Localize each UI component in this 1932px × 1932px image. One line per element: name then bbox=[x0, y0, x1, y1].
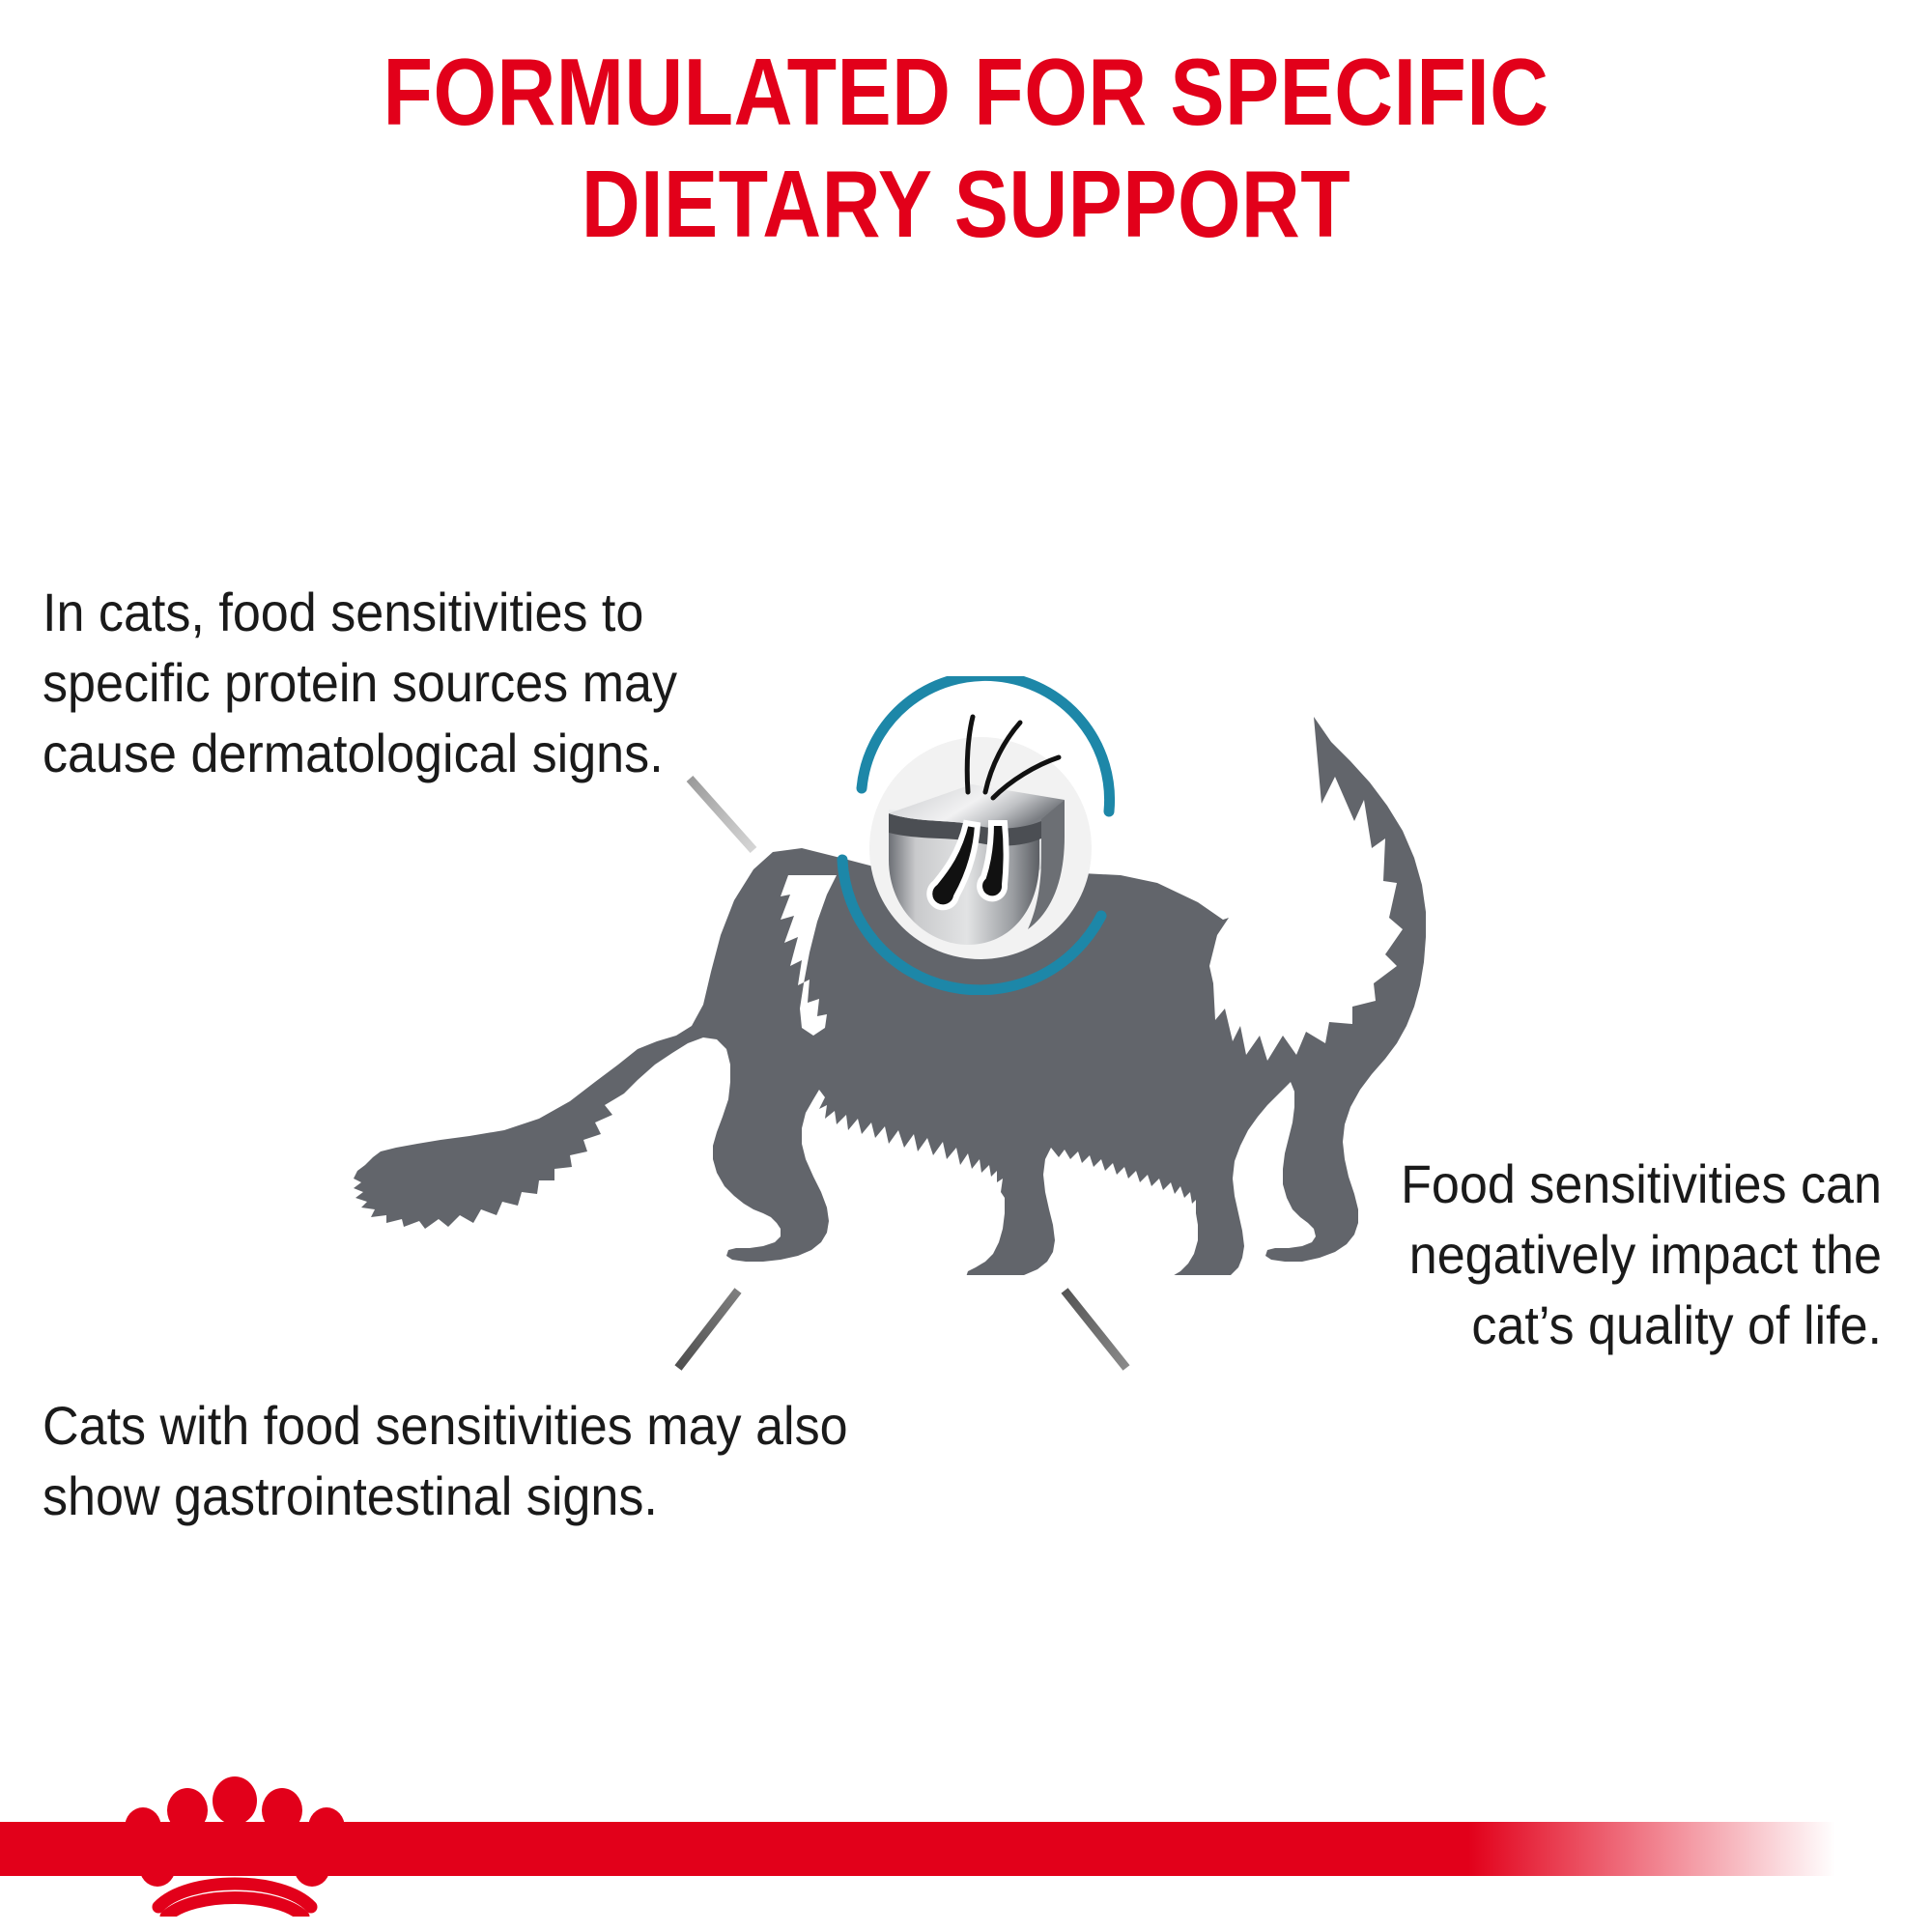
page-title: FORMULATED FOR SPECIFIC DIETARY SUPPORT bbox=[235, 37, 1697, 260]
callout-gastrointestinal-signs: Cats with food sensitivities may also sh… bbox=[43, 1391, 887, 1532]
leader-line-bottom-left bbox=[37, 1275, 925, 1381]
callout-line: cat’s quality of life. bbox=[1324, 1291, 1882, 1361]
page-title-line-1: FORMULATED FOR SPECIFIC bbox=[235, 37, 1697, 149]
callout-line: Food sensitivities can bbox=[1324, 1150, 1882, 1220]
callout-line: cause dermatological signs. bbox=[43, 719, 725, 789]
callout-line: negatively impact the bbox=[1324, 1220, 1882, 1291]
infographic-page: FORMULATED FOR SPECIFIC DIETARY SUPPORT bbox=[0, 0, 1932, 1932]
page-title-line-2: DIETARY SUPPORT bbox=[235, 149, 1697, 261]
callout-dermatological-signs: In cats, food sensitivities to specific … bbox=[43, 578, 725, 788]
royal-canin-crown-icon bbox=[124, 1772, 346, 1917]
callout-quality-of-life: Food sensitivities can negatively impact… bbox=[1324, 1150, 1882, 1360]
callout-line: specific protein sources may bbox=[43, 648, 725, 719]
callout-line: show gastrointestinal signs. bbox=[43, 1462, 887, 1532]
skin-hair-follicle-icon bbox=[821, 676, 1140, 995]
callout-line: Cats with food sensitivities may also bbox=[43, 1391, 887, 1462]
callout-line: In cats, food sensitivities to bbox=[43, 578, 725, 648]
